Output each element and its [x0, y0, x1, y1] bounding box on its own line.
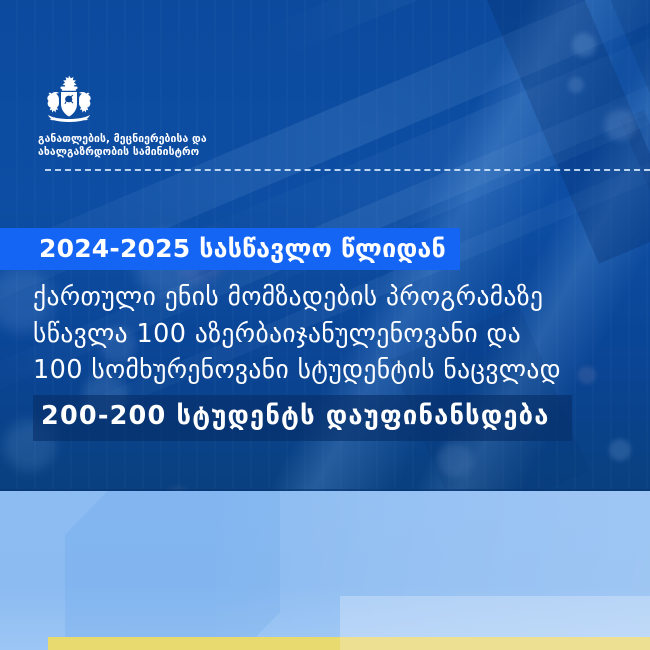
academic-year-banner: 2024-2025 სასწავლო წლიდან [0, 228, 460, 270]
headline-line: 100 სომხურენოვანი სტუდენტის ნაცვლად [33, 352, 650, 389]
dashed-divider [45, 169, 650, 171]
georgia-coat-of-arms-icon [38, 74, 100, 126]
poster-root: განათლების, მეცნიერებისა და ახალგაზრდობი… [0, 0, 650, 650]
headline-line: სწავლა 100 აზერბაიჯანულენოვანი და [33, 316, 650, 353]
ministry-name-label: განათლების, მეცნიერებისა და ახალგაზრდობი… [38, 133, 338, 160]
headline-line: ქართული ენის მომზადების პროგრამაზე [33, 279, 650, 316]
bokeh-circle [604, 109, 636, 141]
ministry-branding: განათლების, მეცნიერებისა და ახალგაზრდობი… [38, 74, 338, 160]
emphasis-banner: 200-200 სტუდენტს დაუფინანსდება [33, 395, 572, 441]
bottom-background-panel [0, 491, 650, 650]
headline-body: ქართული ენის მომზადების პროგრამაზე სწავლ… [0, 279, 650, 389]
bokeh-circle [572, 33, 596, 57]
accent-yellow-bar [48, 637, 650, 650]
bokeh-circle [568, 77, 584, 93]
bokeh-circle [609, 439, 631, 461]
headline-block: 2024-2025 სასწავლო წლიდან ქართული ენის მ… [0, 228, 650, 441]
accent-yellow-bar-highlight [340, 637, 650, 650]
bokeh-circle [438, 443, 472, 477]
